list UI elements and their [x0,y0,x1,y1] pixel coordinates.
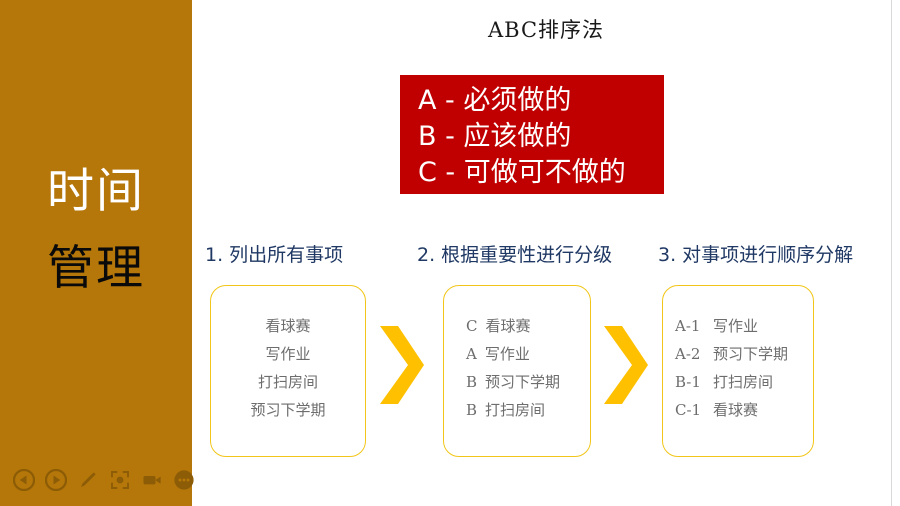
list-item: C-1看球赛 [675,396,813,424]
focus-icon[interactable] [108,468,132,492]
sidebar-title-line-2: 管理 [0,245,192,292]
list-item-tag: C-1 [675,396,705,424]
list-item-text: 预习下学期 [250,401,325,419]
list-item: A-2预习下学期 [675,340,813,368]
abc-legend-line: C - 可做可不做的 [418,155,664,191]
chevron-right-icon [378,322,426,408]
list-item-text: 打扫房间 [258,373,318,391]
flow-box-3: A-1写作业 A-2预习下学期 B-1打扫房间 C-1看球赛 [662,285,814,457]
list-item-text: 预习下学期 [485,373,560,391]
abc-legend-line: A - 必须做的 [418,83,664,119]
flow-box-2: C看球赛 A写作业 B预习下学期 B打扫房间 [443,285,591,457]
step-header-3: 3. 对事项进行顺序分解 [658,240,853,267]
list-item-text: 看球赛 [265,317,310,335]
playback-toolbar [12,464,192,496]
list-item: A写作业 [466,340,590,368]
sidebar-title-line-1: 时间 [0,168,192,215]
list-item: B预习下学期 [466,368,590,396]
list-item-text: 写作业 [713,317,758,335]
list-item: 写作业 [211,340,365,368]
list-item: 看球赛 [211,312,365,340]
pencil-icon[interactable] [76,468,100,492]
list-item-tag: A-2 [675,340,705,368]
list-item-text: 预习下学期 [713,345,788,363]
step-header-1: 1. 列出所有事项 [205,240,343,267]
list-item-text: 打扫房间 [485,401,545,419]
list-item: 打扫房间 [211,368,365,396]
list-item-text: 看球赛 [713,401,758,419]
abc-legend-line: B - 应该做的 [418,119,664,155]
abc-legend-box: A - 必须做的 B - 应该做的 C - 可做可不做的 [400,75,664,194]
list-item: 预习下学期 [211,396,365,424]
list-item-tag: B [466,368,477,396]
list-item-tag: C [466,312,477,340]
presentation-slide: 时间 管理 [0,0,900,506]
flow-box-1: 看球赛 写作业 打扫房间 预习下学期 [210,285,366,457]
list-item: B打扫房间 [466,396,590,424]
slide-right-edge [891,0,892,506]
list-item: A-1写作业 [675,312,813,340]
list-item-tag: B-1 [675,368,705,396]
step-header-2: 2. 根据重要性进行分级 [417,240,612,267]
sidebar: 时间 管理 [0,0,192,506]
list-item-tag: A [466,340,477,368]
more-icon[interactable] [172,468,196,492]
chevron-right-icon [602,322,650,408]
list-item-text: 打扫房间 [713,373,773,391]
previous-icon[interactable] [12,468,36,492]
play-icon[interactable] [44,468,68,492]
list-item: C看球赛 [466,312,590,340]
sidebar-title: 时间 管理 [0,168,192,292]
video-icon[interactable] [140,468,164,492]
list-item: B-1打扫房间 [675,368,813,396]
list-item-text: 写作业 [265,345,310,363]
list-item-tag: A-1 [675,312,705,340]
slide-title: ABC排序法 [192,14,900,44]
list-item-text: 看球赛 [485,317,530,335]
list-item-text: 写作业 [485,345,530,363]
list-item-tag: B [466,396,477,424]
